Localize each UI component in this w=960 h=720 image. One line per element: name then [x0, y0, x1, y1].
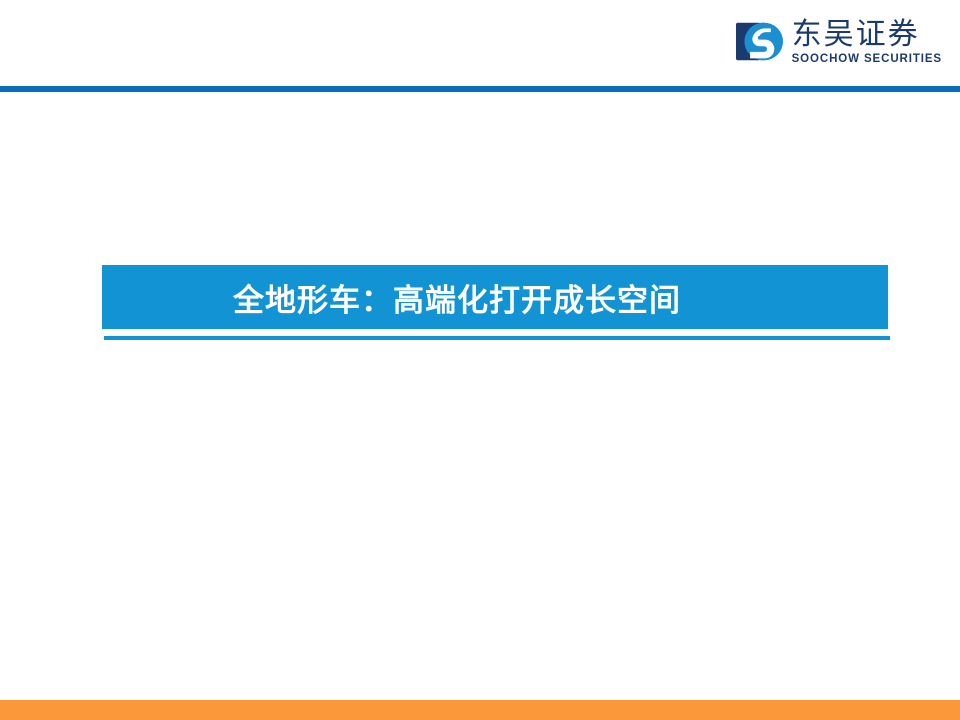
- brand-name-en: SOOCHOW SECURITIES: [792, 52, 942, 66]
- slide-canvas: 东吴证券 SOOCHOW SECURITIES 全地形车：高端化打开成长空间: [0, 0, 960, 720]
- brand-name-cn: 东吴证券: [792, 19, 942, 51]
- brand-wordmark: 东吴证券 SOOCHOW SECURITIES: [792, 18, 942, 66]
- soochow-securities-logo-icon: [736, 18, 783, 65]
- brand-logo: 东吴证券 SOOCHOW SECURITIES: [736, 18, 942, 76]
- footer-accent-band: [0, 700, 960, 720]
- slide-body: [0, 345, 960, 700]
- section-title-underline: [104, 336, 890, 340]
- section-title-banner: 全地形车：高端化打开成长空间: [102, 265, 888, 329]
- slide-header: 东吴证券 SOOCHOW SECURITIES: [0, 0, 960, 86]
- header-divider-rule: [0, 86, 960, 92]
- page-title: 全地形车：高端化打开成长空间: [233, 275, 681, 320]
